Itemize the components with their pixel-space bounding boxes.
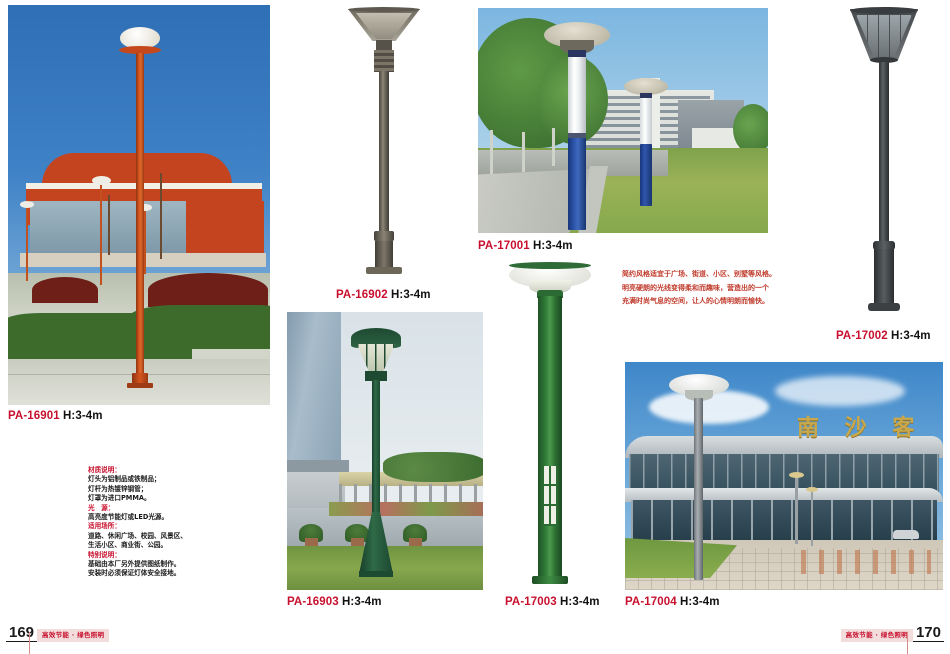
page-number-left: 169 xyxy=(6,625,37,642)
background-lamp xyxy=(26,205,28,281)
product-height: H:3-4m xyxy=(560,596,600,608)
bare-tree xyxy=(160,173,162,259)
terminal-signage: 南 沙 客 xyxy=(797,410,923,442)
lamp-pole xyxy=(372,380,380,520)
lamp-light-column xyxy=(568,57,586,135)
blurb-line-1: 简约风格适宜于广场、街道、小区、别墅等风格。 xyxy=(622,268,822,282)
footer-rule-left xyxy=(29,632,30,654)
tree-trunk xyxy=(522,132,525,172)
building-right-block xyxy=(186,201,264,253)
lamp-base-collar xyxy=(374,231,394,241)
background-lamp xyxy=(100,181,102,285)
product-code: PA-16902 xyxy=(336,289,388,301)
lamp-pa-16901 xyxy=(120,27,160,387)
product-photo-pa-16903 xyxy=(287,312,483,590)
blurb-line-2: 明亮硬朗的光线变得柔和而趣味，营造出的一个 xyxy=(622,282,822,296)
label-pa-16902: PA-16902 H:3-4m xyxy=(336,289,431,301)
footer-rule-right xyxy=(907,632,908,654)
product-code: PA-17002 xyxy=(836,330,888,342)
product-photo-pa-16902 xyxy=(332,5,436,280)
spec-usage-line: 道路、休闲广场、校园、风景区、 xyxy=(88,532,278,541)
bare-tree xyxy=(108,195,110,255)
label-pa-16903: PA-16903 H:3-4m xyxy=(287,596,382,608)
label-pa-17004: PA-17004 H:3-4m xyxy=(625,596,720,608)
product-code: PA-17003 xyxy=(505,596,557,608)
spec-source-title: 光 源： xyxy=(88,504,278,513)
spec-usage-title: 适用场所： xyxy=(88,522,278,531)
footer-tagline-left: 高效节能 · 绿色照明 xyxy=(37,629,109,642)
lamp-pole xyxy=(568,138,586,230)
product-height: H:3-4m xyxy=(63,410,103,422)
lamp-base xyxy=(375,241,393,269)
parked-car xyxy=(893,530,919,539)
shrub-red xyxy=(148,273,268,307)
product-code: PA-16903 xyxy=(287,596,339,608)
product-height: H:3-4m xyxy=(533,240,573,252)
lamp-base-plate xyxy=(366,267,402,274)
footer-tagline-right: 高效节能 · 绿色照明 xyxy=(841,629,913,642)
specification-block: 材质说明： 灯头为铝制品或铁制品； 灯杆为热镀锌钢管； 灯罩为进口PMMA。 光… xyxy=(88,466,278,579)
lamp-pole xyxy=(136,53,144,379)
lamp-light-column xyxy=(640,98,652,146)
product-photo-pa-17001 xyxy=(478,8,768,233)
footer-left: 169 高效节能 · 绿色照明 xyxy=(6,625,109,642)
lamp-pole xyxy=(538,296,562,578)
spec-material-line: 灯罩为进口PMMA。 xyxy=(88,494,278,503)
lamp-pa-17004 xyxy=(669,370,729,585)
label-pa-17002: PA-17002 H:3-4m xyxy=(836,330,931,342)
label-pa-17001: PA-17001 H:3-4m xyxy=(478,240,573,252)
lamp-pa-16902 xyxy=(348,5,420,277)
product-height: H:3-4m xyxy=(391,289,431,301)
product-photo-pa-16901 xyxy=(8,5,270,405)
spec-material-title: 材质说明： xyxy=(88,466,278,475)
lamp-shade-top-rim xyxy=(348,7,420,12)
lamp-pa-17001-rear xyxy=(624,78,668,208)
blurb-line-3: 充满时尚气息的空间，让人的心情明朗而愉快。 xyxy=(622,295,822,309)
product-photo-pa-17003 xyxy=(495,258,605,590)
catalog-page: PA-16901 H:3-4m PA-16902 H:3-4m xyxy=(0,0,950,654)
lamp-pa-17001-front xyxy=(544,18,610,228)
background-lamp xyxy=(795,476,798,544)
spec-special-line: 安装时必须保证灯体安全接地。 xyxy=(88,569,278,578)
product-code: PA-16901 xyxy=(8,410,60,422)
lamp-pole xyxy=(379,71,389,233)
lamp-pa-17002 xyxy=(846,5,922,315)
lamp-shade-top-rim xyxy=(850,7,918,14)
cloud xyxy=(775,376,905,406)
product-height: H:3-4m xyxy=(680,596,720,608)
background-lamp-shade xyxy=(92,176,111,185)
lamp-base-plate xyxy=(532,576,568,584)
tower-canopy xyxy=(287,460,349,472)
background-lamp-shade xyxy=(20,201,34,208)
product-code: PA-17004 xyxy=(625,596,677,608)
shrub-red xyxy=(32,277,98,303)
page-number-right: 170 xyxy=(913,625,944,642)
product-photo-pa-17002 xyxy=(828,5,940,317)
glass-tower-windows xyxy=(287,312,341,472)
spec-special-title: 特别说明： xyxy=(88,551,278,560)
tree-row-far xyxy=(733,104,768,154)
lamp-pole xyxy=(694,398,703,580)
lamp-base-plate xyxy=(359,571,393,577)
product-height: H:3-4m xyxy=(342,596,382,608)
background-lamp-shade xyxy=(789,472,804,478)
lamp-pa-16903 xyxy=(351,322,401,582)
lamp-shade-frame xyxy=(357,344,395,374)
plaza-accent-tiles xyxy=(801,550,931,574)
label-pa-16901: PA-16901 H:3-4m xyxy=(8,410,103,422)
lamp-pole xyxy=(879,62,889,244)
lamp-pole xyxy=(640,144,652,206)
product-photo-pa-17004: 南 沙 客 xyxy=(625,362,943,590)
spec-usage-line: 生活小区、商业街、公园。 xyxy=(88,541,278,550)
lamp-trumpet-base xyxy=(359,512,393,574)
lamp-base-plate xyxy=(127,383,153,388)
lamp-base-plate xyxy=(868,303,900,311)
spec-material-line: 灯杆为热镀锌钢管； xyxy=(88,485,278,494)
background-lamp-shade xyxy=(806,487,818,492)
lamp-collar xyxy=(374,50,394,72)
building-glass xyxy=(30,201,190,255)
product-height: H:3-4m xyxy=(891,330,931,342)
spec-material-line: 灯头为铝制品或铁制品； xyxy=(88,475,278,484)
footer-right: 高效节能 · 绿色照明 170 xyxy=(841,625,944,642)
lamp-base xyxy=(874,249,894,305)
tree-trunk xyxy=(490,130,493,174)
label-pa-17003: PA-17003 H:3-4m xyxy=(505,596,600,608)
style-description: 简约风格适宜于广场、街道、小区、别墅等风格。 明亮硬朗的光线变得柔和而趣味，营造… xyxy=(622,268,822,309)
lamp-pa-17003 xyxy=(509,258,591,588)
product-code: PA-17001 xyxy=(478,240,530,252)
lamp-shade-rim xyxy=(509,262,591,269)
lamp-window-grid xyxy=(542,466,558,526)
background-lamp xyxy=(811,490,813,546)
